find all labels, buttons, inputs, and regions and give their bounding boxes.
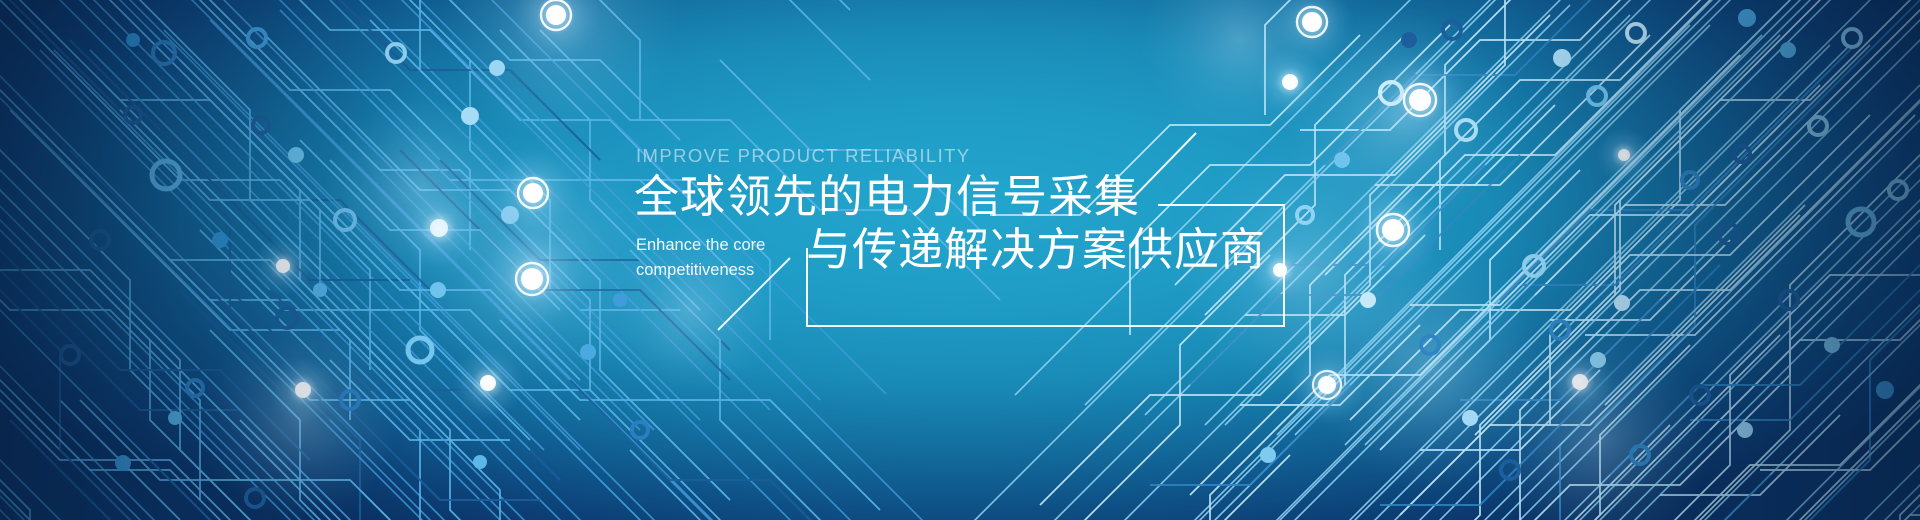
circuit-glow-nodes-left [253,0,600,424]
banner-subtext-line2: competitiveness [636,258,786,283]
banner-eyebrow: IMPROVE PRODUCT RELIABILITY [636,145,971,167]
banner-subtext-line1: Enhance the core [636,233,786,258]
banner-headline-line1: 全球领先的电力信号采集 [634,171,1140,223]
circuit-nodes-right [1260,9,1907,479]
banner-text-block: IMPROVE PRODUCT RELIABILITY 全球领先的电力信号采集 … [634,145,1314,335]
hero-banner: IMPROVE PRODUCT RELIABILITY 全球领先的电力信号采集 … [0,0,1920,520]
banner-subtext: Enhance the core competitiveness [636,233,786,283]
circuit-nodes-left [61,29,648,507]
banner-headline-line2: 与传递解决方案供应商 [806,224,1266,276]
